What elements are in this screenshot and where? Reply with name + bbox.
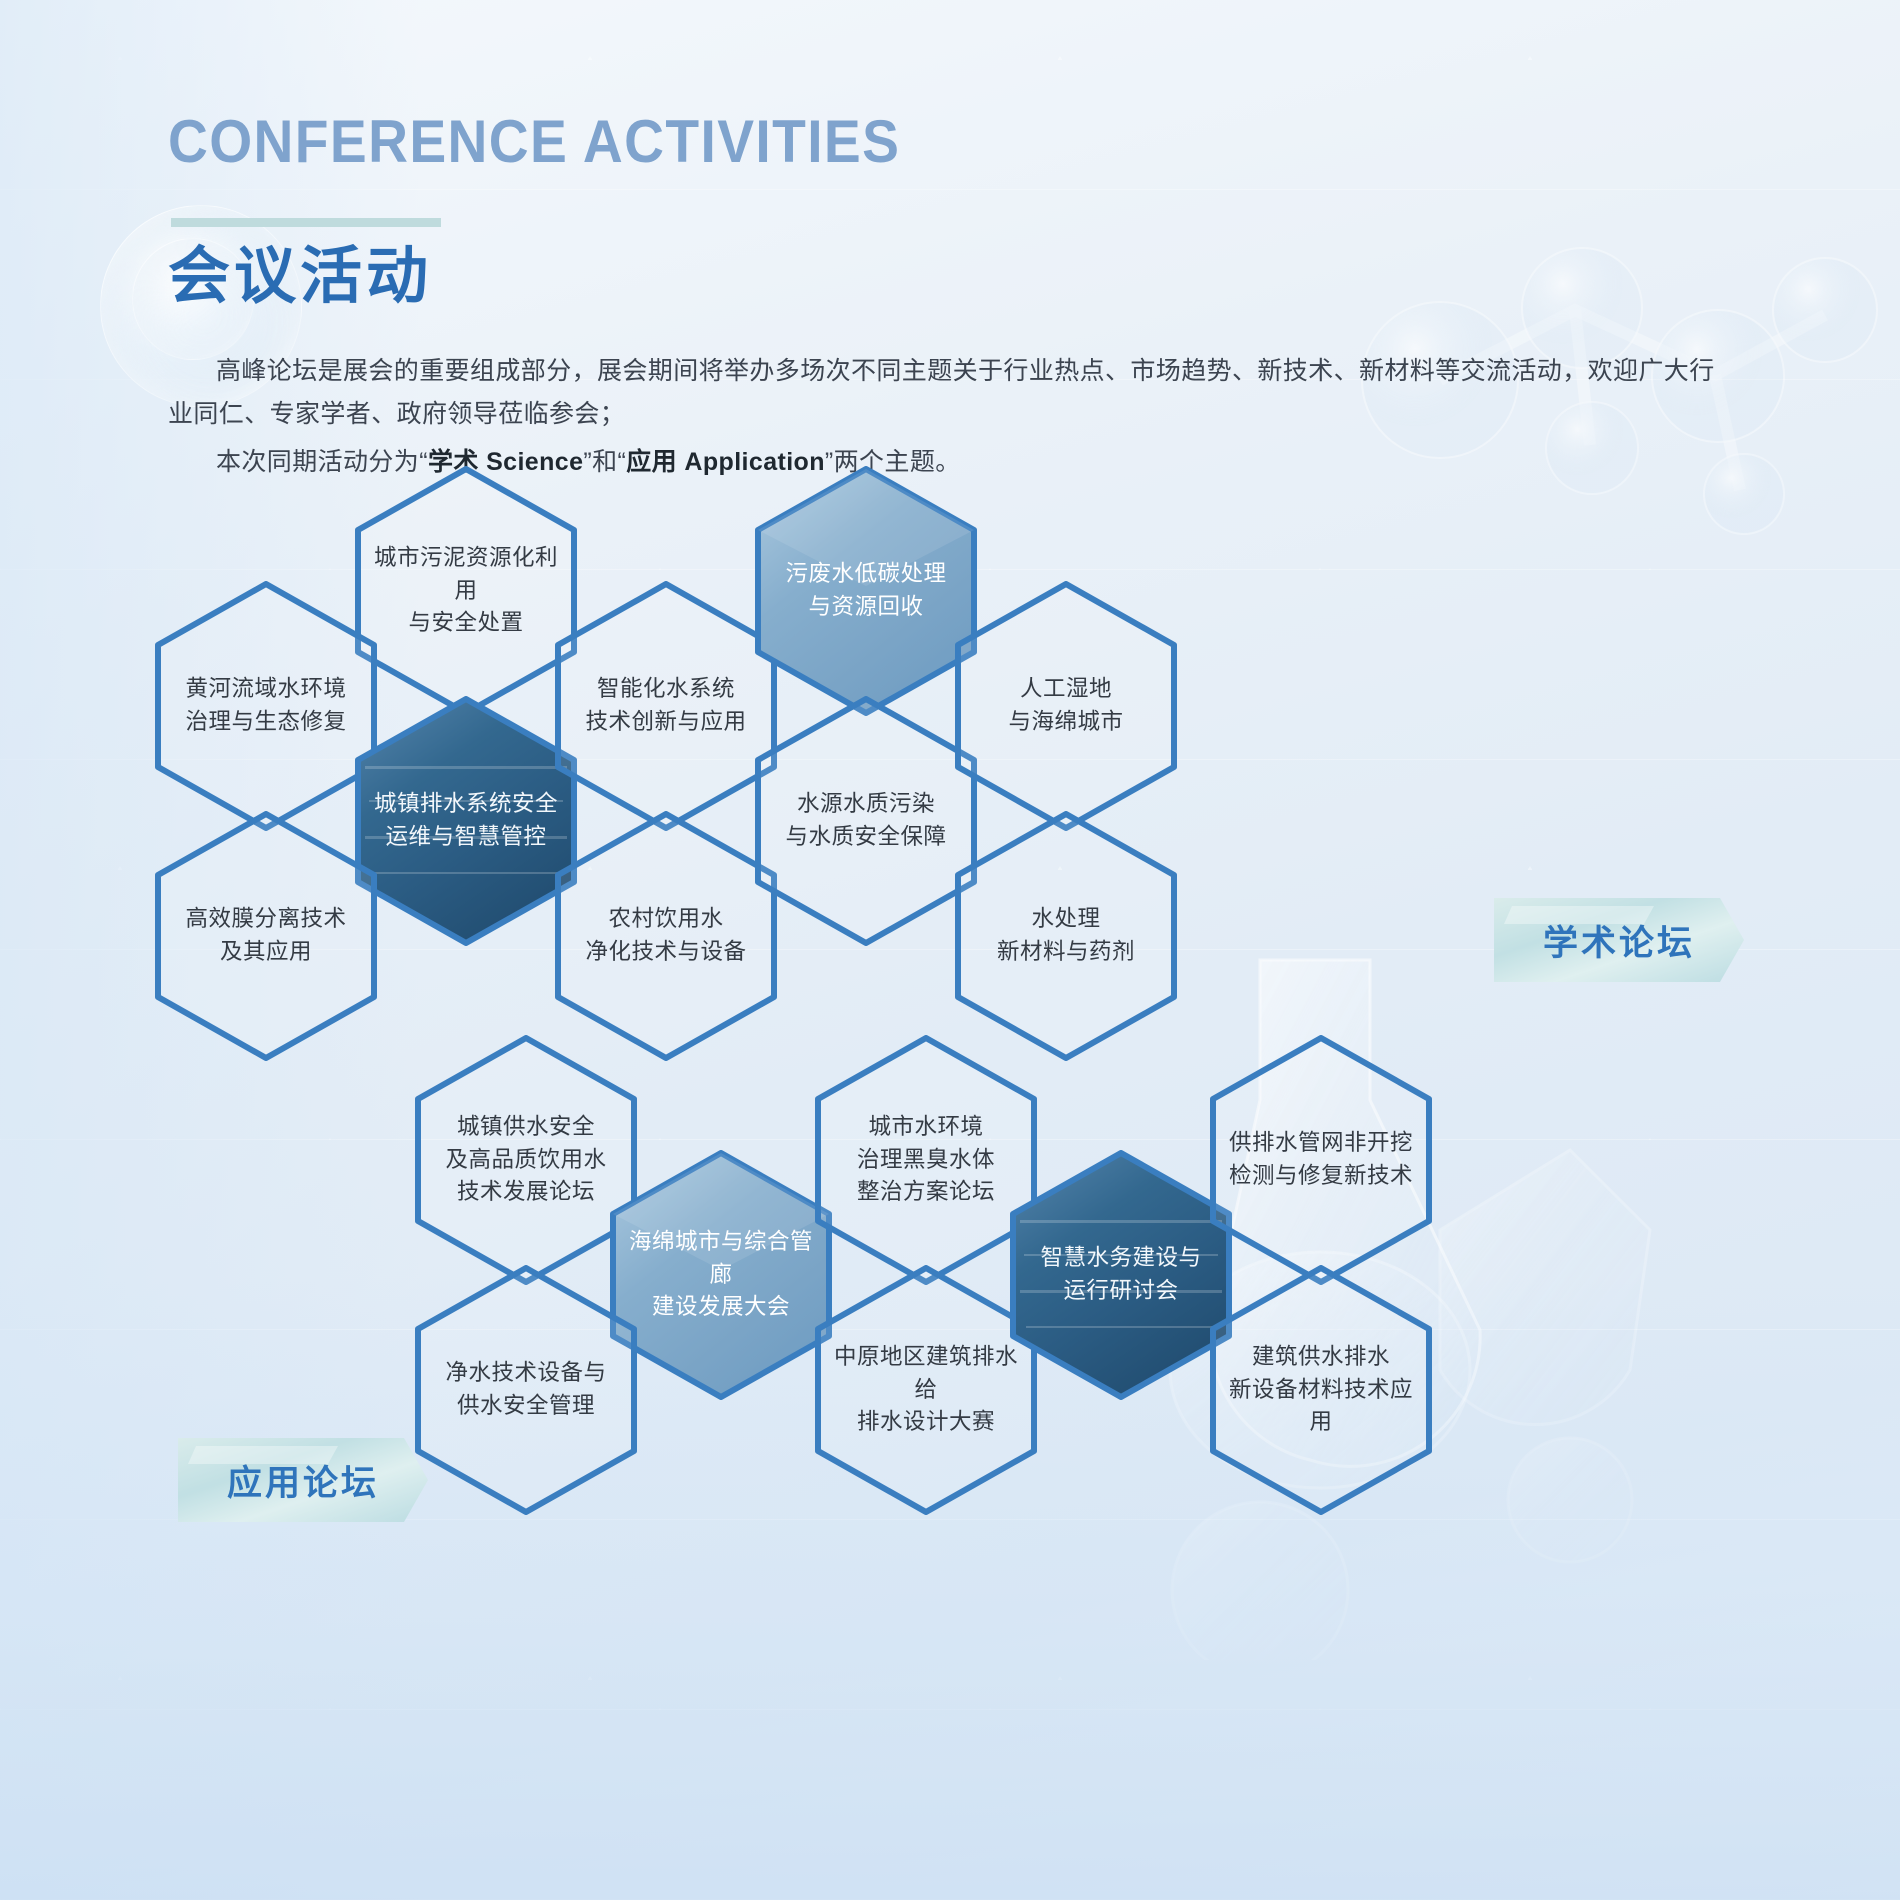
badge-academic-forum[interactable]: 学术论坛 (1494, 880, 1744, 1000)
hex-label-membrane-separation: 高效膜分离技术 及其应用 (175, 903, 356, 968)
hex-label-new-materials: 水处理 新材料与药剂 (987, 903, 1145, 968)
hex-smart-water-system[interactable]: 智能化水系统 技术创新与应用 (555, 581, 777, 831)
hex-yellow-river[interactable]: 黄河流域水环境 治理与生态修复 (155, 581, 377, 831)
hex-smart-water-affairs[interactable]: 智慧水务建设与 运行研讨会 (1010, 1150, 1232, 1400)
hex-label-smart-water-affairs: 智慧水务建设与 运行研讨会 (1030, 1242, 1211, 1307)
hex-label-yellow-river: 黄河流域水环境 治理与生态修复 (175, 673, 356, 738)
hex-building-supply[interactable]: 建筑供水排水 新设备材料技术应用 (1210, 1265, 1432, 1515)
hex-label-smart-water-system: 智能化水系统 技术创新与应用 (575, 673, 756, 738)
hex-trenchless-pipe[interactable]: 供排水管网非开挖 检测与修复新技术 (1210, 1035, 1432, 1285)
hex-label-zhongyuan-contest: 中原地区建筑排水给 排水设计大赛 (815, 1341, 1037, 1439)
hex-label-purification-supply: 净水技术设备与 供水安全管理 (435, 1357, 616, 1422)
badge-academic-label: 学术论坛 (1543, 915, 1695, 966)
hex-zhongyuan-contest[interactable]: 中原地区建筑排水给 排水设计大赛 (815, 1265, 1037, 1515)
hex-rural-drinking[interactable]: 农村饮用水 净化技术与设备 (555, 811, 777, 1061)
hex-label-low-carbon: 污废水低碳处理 与资源回收 (775, 558, 956, 623)
hex-sponge-corridor[interactable]: 海绵城市与综合管廊 建设发展大会 (610, 1150, 832, 1400)
hex-black-odorous-water[interactable]: 城市水环境 治理黑臭水体 整治方案论坛 (815, 1035, 1037, 1285)
hex-label-trenchless-pipe: 供排水管网非开挖 检测与修复新技术 (1219, 1127, 1423, 1192)
hex-label-rural-drinking: 农村饮用水 净化技术与设备 (575, 903, 756, 968)
hex-urban-sludge[interactable]: 城市污泥资源化利用 与安全处置 (355, 466, 577, 716)
hex-label-building-supply: 建筑供水排水 新设备材料技术应用 (1210, 1341, 1432, 1439)
hex-town-supply-safety[interactable]: 城镇供水安全 及高品质饮用水 技术发展论坛 (415, 1035, 637, 1285)
badge-application-label: 应用论坛 (227, 1455, 379, 1506)
hex-new-materials[interactable]: 水处理 新材料与药剂 (955, 811, 1177, 1061)
hex-label-sponge-corridor: 海绵城市与综合管廊 建设发展大会 (610, 1226, 832, 1324)
badge-application-forum[interactable]: 应用论坛 (178, 1420, 428, 1540)
hex-label-town-supply-safety: 城镇供水安全 及高品质饮用水 技术发展论坛 (435, 1111, 616, 1209)
hex-label-black-odorous-water: 城市水环境 治理黑臭水体 整治方案论坛 (847, 1111, 1005, 1209)
hex-label-town-drainage: 城镇排水系统安全 运维与智慧管控 (364, 788, 568, 853)
hex-membrane-separation[interactable]: 高效膜分离技术 及其应用 (155, 811, 377, 1061)
hex-purification-supply[interactable]: 净水技术设备与 供水安全管理 (415, 1265, 637, 1515)
hex-source-water[interactable]: 水源水质污染 与水质安全保障 (755, 696, 977, 946)
hex-label-urban-sludge: 城市污泥资源化利用 与安全处置 (355, 542, 577, 640)
hex-label-wetland-sponge: 人工湿地 与海绵城市 (998, 673, 1133, 738)
hex-wetland-sponge[interactable]: 人工湿地 与海绵城市 (955, 581, 1177, 831)
hex-town-drainage[interactable]: 城镇排水系统安全 运维与智慧管控 (355, 696, 577, 946)
hex-low-carbon[interactable]: 污废水低碳处理 与资源回收 (755, 466, 977, 716)
hex-label-source-water: 水源水质污染 与水质安全保障 (775, 788, 956, 853)
